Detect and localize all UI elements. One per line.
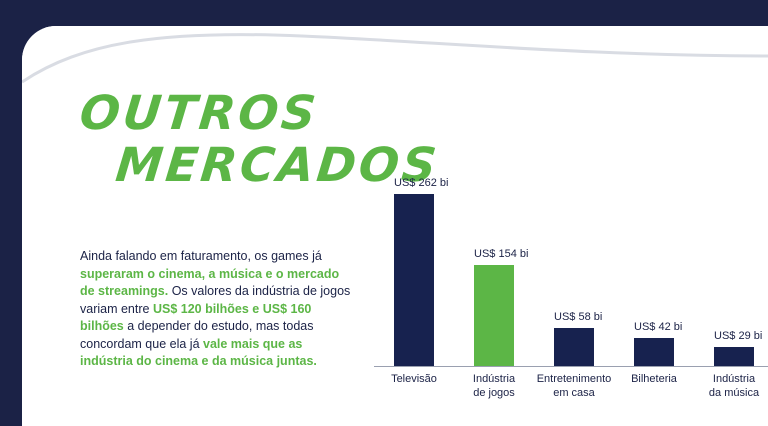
category-label: Indústriade jogos — [454, 372, 534, 400]
bar-value-label: US$ 29 bi — [714, 330, 754, 342]
category-label-line: da música — [694, 386, 768, 400]
category-label: Entretenimentoem casa — [534, 372, 614, 400]
bar-group: US$ 29 bi — [714, 330, 754, 366]
decorative-swoosh — [22, 26, 768, 92]
category-label-line: Entretenimento — [534, 372, 614, 386]
chart-plot-area: US$ 262 biUS$ 154 biUS$ 58 biUS$ 42 biUS… — [374, 166, 768, 366]
chart-axis-line — [374, 366, 768, 367]
bar-value-label: US$ 58 bi — [554, 311, 594, 323]
content-panel: Outros Mercados Ainda falando em faturam… — [22, 26, 768, 426]
bar-group: US$ 154 bi — [474, 248, 514, 366]
category-label-line: de jogos — [454, 386, 534, 400]
bar-value-label: US$ 154 bi — [474, 248, 514, 260]
bar — [394, 194, 434, 366]
bar — [634, 338, 674, 366]
paragraph-seg-1: Ainda falando em faturamento, os games j… — [80, 249, 322, 263]
category-label-line: Indústria — [694, 372, 768, 386]
title-line-2: Mercados — [113, 140, 382, 192]
bar-value-label: US$ 42 bi — [634, 321, 674, 333]
category-label-line: Indústria — [454, 372, 534, 386]
bar — [474, 265, 514, 366]
category-label-line: Bilheteria — [614, 372, 694, 386]
category-label: Bilheteria — [614, 372, 694, 386]
bar-group: US$ 262 bi — [394, 177, 434, 366]
bar — [714, 347, 754, 366]
bar-chart: US$ 262 biUS$ 154 biUS$ 58 biUS$ 42 biUS… — [374, 166, 768, 406]
body-paragraph: Ainda falando em faturamento, os games j… — [80, 248, 352, 371]
page-title: Outros Mercados — [80, 88, 380, 192]
bar-group: US$ 42 bi — [634, 321, 674, 366]
title-line-1: Outros — [77, 88, 382, 140]
category-label-line: em casa — [534, 386, 614, 400]
category-label-line: Televisão — [374, 372, 454, 386]
bar-value-label: US$ 262 bi — [394, 177, 434, 189]
bar-group: US$ 58 bi — [554, 311, 594, 366]
category-label: Televisão — [374, 372, 454, 386]
category-label: Indústriada música — [694, 372, 768, 400]
bar — [554, 328, 594, 366]
